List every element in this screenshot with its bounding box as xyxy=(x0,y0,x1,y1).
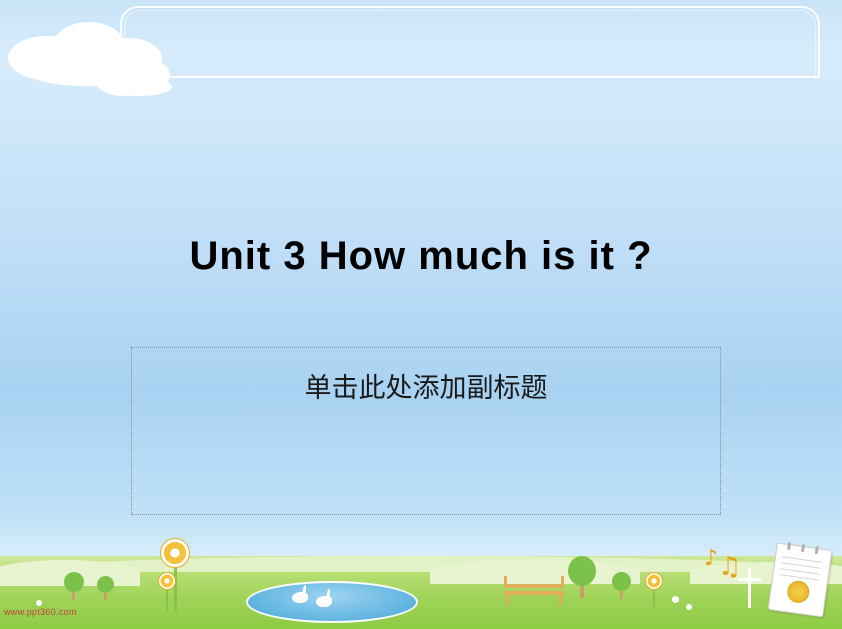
watermark-text: www.ppt360.com xyxy=(4,607,77,617)
notebook-seal-icon xyxy=(786,579,811,604)
notebook xyxy=(768,542,833,617)
swan-left xyxy=(292,592,308,603)
subtitle-placeholder-text: 单击此处添加副标题 xyxy=(132,366,720,405)
presentation-slide: Unit 3 How much is it ? 单击此处添加副标题 xyxy=(0,0,842,629)
daisy-3 xyxy=(36,600,42,606)
swan-right xyxy=(316,596,332,607)
hill-center xyxy=(430,560,640,584)
slide-frame-inner-border xyxy=(124,10,816,76)
slide-frame-baseline xyxy=(120,76,820,78)
pond xyxy=(246,581,418,623)
daisy-2 xyxy=(686,604,692,610)
music-note-icon-1: ♪ xyxy=(704,546,718,571)
subtitle-placeholder-box[interactable]: 单击此处添加副标题 xyxy=(131,347,721,515)
daisy-1 xyxy=(672,596,679,603)
slide-title: Unit 3 How much is it ? xyxy=(60,234,782,279)
